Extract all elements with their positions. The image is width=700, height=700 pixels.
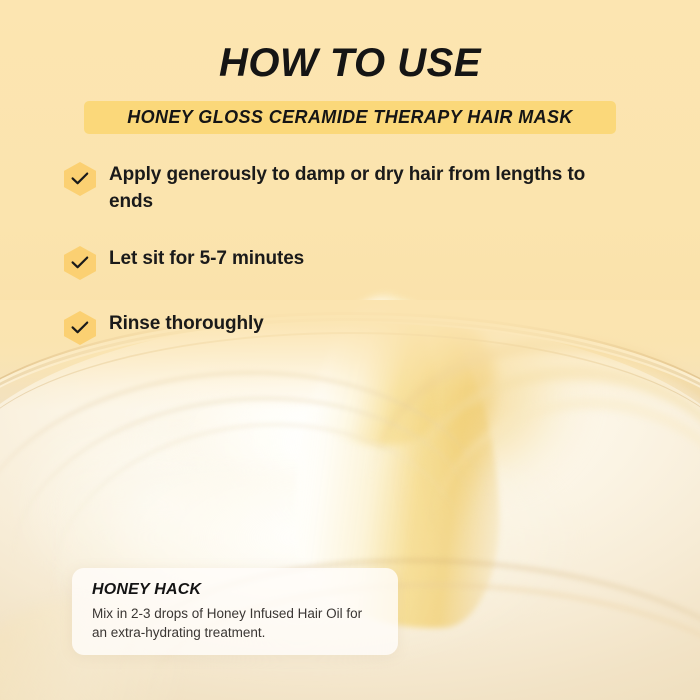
honey-hack-body: Mix in 2-3 drops of Honey Infused Hair O…: [92, 604, 378, 642]
step-label: Apply generously to damp or dry hair fro…: [109, 160, 624, 215]
step-label: Let sit for 5-7 minutes: [109, 244, 304, 272]
check-hexagon-icon: [64, 311, 96, 345]
product-name-banner: HONEY GLOSS CERAMIDE THERAPY HAIR MASK: [84, 101, 616, 134]
how-to-use-infographic: HOW TO USE HONEY GLOSS CERAMIDE THERAPY …: [0, 0, 700, 700]
check-hexagon-icon: [64, 162, 96, 196]
honey-hack-title: HONEY HACK: [92, 581, 378, 599]
step-item: Let sit for 5-7 minutes: [64, 244, 624, 280]
honey-hack-card: HONEY HACK Mix in 2-3 drops of Honey Inf…: [72, 568, 398, 655]
check-hexagon-icon: [64, 246, 96, 280]
product-name-label: HONEY GLOSS CERAMIDE THERAPY HAIR MASK: [127, 107, 573, 128]
steps-list: Apply generously to damp or dry hair fro…: [64, 160, 624, 374]
page-title: HOW TO USE: [0, 40, 700, 86]
step-item: Rinse thoroughly: [64, 309, 624, 345]
step-label: Rinse thoroughly: [109, 309, 264, 337]
content-layer: HOW TO USE HONEY GLOSS CERAMIDE THERAPY …: [0, 0, 700, 700]
step-item: Apply generously to damp or dry hair fro…: [64, 160, 624, 215]
